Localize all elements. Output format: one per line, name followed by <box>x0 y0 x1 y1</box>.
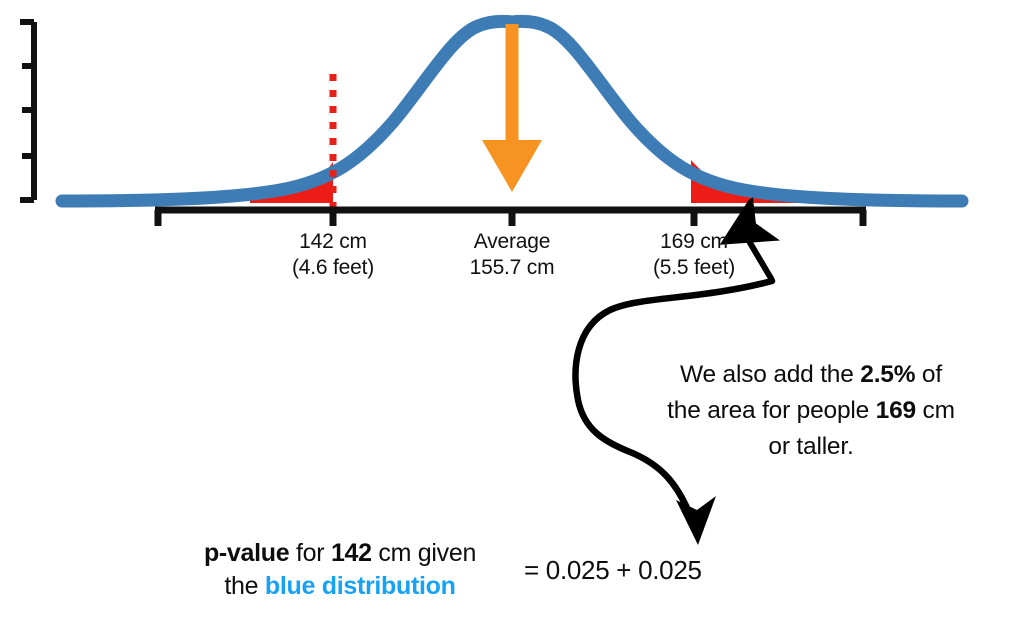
p-value-eq-mid1: for <box>289 539 331 567</box>
callout-line-3: or taller. <box>611 429 1011 465</box>
figure-canvas: 142 cm (4.6 feet) Average 155.7 cm 169 c… <box>0 0 1022 637</box>
callout-line2-bold: 169 <box>876 397 916 424</box>
axis-label-142-line1: 142 cm <box>253 229 413 255</box>
axis-label-169-line2: (5.5 feet) <box>614 255 774 281</box>
p-value-label: p-value <box>204 539 289 567</box>
p-value-equation-right: = 0.025 + 0.025 <box>524 555 702 586</box>
callout-line2-post: cm <box>916 397 955 424</box>
axis-label-average: Average 155.7 cm <box>432 229 592 281</box>
axis-label-169-line1: 169 cm <box>614 229 774 255</box>
callout-line2-pre: the area for people <box>667 397 876 424</box>
axis-label-169: 169 cm (5.5 feet) <box>614 229 774 281</box>
callout-line-1: We also add the 2.5% of <box>611 357 1011 393</box>
callout-text: We also add the 2.5% of the area for peo… <box>611 357 1011 465</box>
x-axis <box>155 210 866 226</box>
axis-label-142: 142 cm (4.6 feet) <box>253 229 413 281</box>
axis-label-average-line2: 155.7 cm <box>432 255 592 281</box>
p-value-eq-mid2: cm given <box>372 539 476 567</box>
axis-label-142-line2: (4.6 feet) <box>253 255 413 281</box>
axis-label-average-line1: Average <box>432 229 592 255</box>
p-value-eq-pre2: the <box>224 572 265 600</box>
p-value-equation: p-value for 142 cm given the blue distri… <box>160 537 780 603</box>
p-value-equation-left: p-value for 142 cm given the blue distri… <box>160 537 520 603</box>
p-value-eq-line-2: the blue distribution <box>160 570 520 603</box>
callout-line-2: the area for people 169 cm <box>611 393 1011 429</box>
p-value-height: 142 <box>331 539 372 567</box>
blue-distribution-label: blue distribution <box>265 572 456 600</box>
callout-line1-bold: 2.5% <box>860 361 915 388</box>
mean-orange-arrow <box>482 24 542 192</box>
y-axis-bracket <box>20 22 34 200</box>
p-value-eq-line-1: p-value for 142 cm given <box>160 537 520 570</box>
callout-line1-post: of <box>915 361 942 388</box>
callout-line1-pre: We also add the <box>680 361 860 388</box>
